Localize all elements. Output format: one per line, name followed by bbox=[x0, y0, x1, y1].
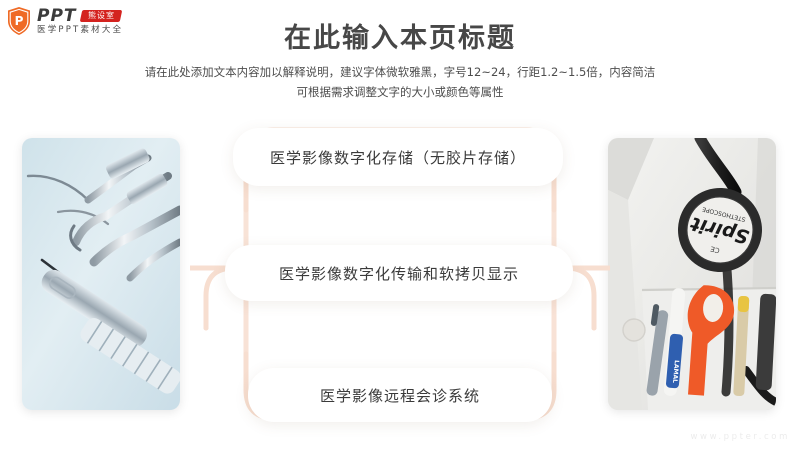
feature-card-2-label: 医学影像数字化传输和软拷贝显示 bbox=[279, 263, 519, 284]
slide-canvas: P PPT 熊设室 医学PPT素材大全 在此输入本页标题 请在此处添加文本内容加… bbox=[0, 0, 800, 450]
subtitle-line-1: 请在此处添加文本内容加以解释说明，建议字体微软雅黑，字号12~24，行距1.2~… bbox=[0, 62, 800, 82]
page-subtitle: 请在此处添加文本内容加以解释说明，建议字体微软雅黑，字号12~24，行距1.2~… bbox=[0, 62, 800, 102]
feature-card-2[interactable]: 医学影像数字化传输和软拷贝显示 bbox=[225, 245, 573, 301]
feature-card-1[interactable]: 医学影像数字化存储（无胶片存储） bbox=[233, 128, 563, 186]
photo-dental-instruments bbox=[22, 138, 180, 410]
footer-watermark: www.ppter.com bbox=[690, 432, 790, 442]
feature-card-1-label: 医学影像数字化存储（无胶片存储） bbox=[270, 147, 526, 168]
subtitle-line-2: 可根据需求调整文字的大小或颜色等属性 bbox=[0, 82, 800, 102]
page-title: 在此输入本页标题 bbox=[0, 16, 800, 55]
feature-card-3-label: 医学影像远程会诊系统 bbox=[320, 385, 480, 406]
feature-card-3[interactable]: 医学影像远程会诊系统 bbox=[248, 368, 552, 422]
photo-doctor-coat: Spirit STETHOSCOPE CE LAMAL bbox=[608, 138, 776, 410]
